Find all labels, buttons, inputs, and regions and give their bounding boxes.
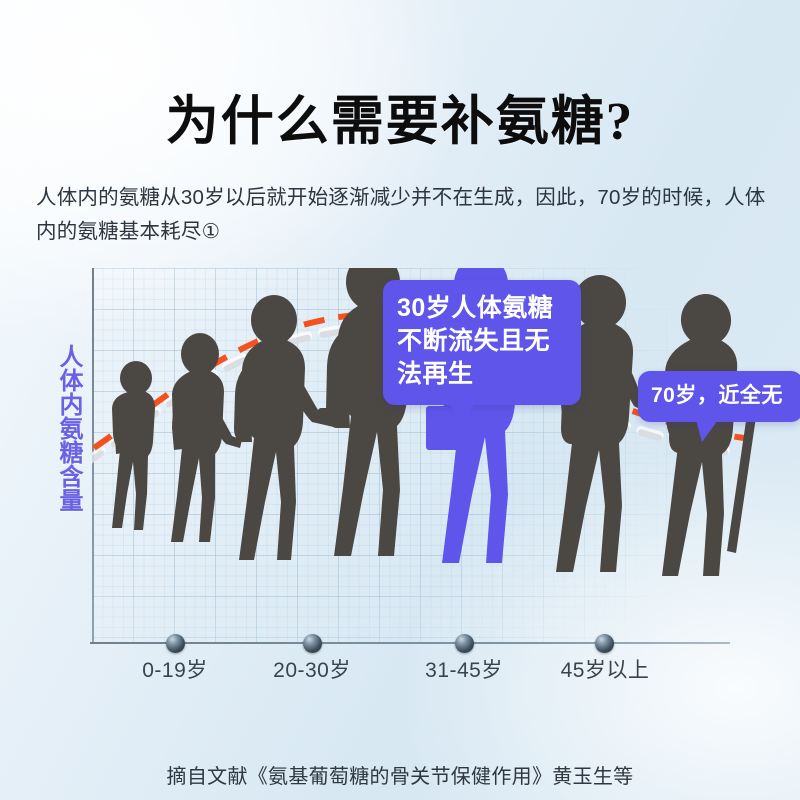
source-citation: 摘自文献《氨基葡萄糖的骨关节保健作用》黄玉生等 — [0, 760, 800, 789]
callout-main-line-3: 法再生 — [397, 358, 567, 391]
callout-main-tail — [447, 403, 475, 428]
y-axis-label: 人体内氨糖含量 — [46, 344, 86, 512]
tick-label-1: 20-30岁 — [252, 654, 372, 684]
tick-marker-0 — [166, 634, 185, 653]
figure-toddler — [112, 361, 155, 530]
tick-label-3: 45岁以上 — [545, 654, 665, 684]
tick-label-2: 31-45岁 — [404, 654, 524, 684]
infographic-poster: 为什么需要补氨糖? 人体内的氨糖从30岁以后就开始逐渐减少并不在生成，因此，70… — [0, 0, 800, 800]
figure-teen — [234, 295, 344, 560]
tick-label-0: 0-19岁 — [115, 654, 235, 684]
tick-marker-1 — [303, 634, 322, 653]
page-title: 为什么需要补氨糖? — [0, 96, 800, 149]
tick-marker-3 — [595, 634, 614, 653]
callout-main-line-2: 不断流失且无 — [397, 325, 567, 358]
callout-small-text: 70岁，近全无 — [651, 382, 791, 410]
callout-small-tail — [696, 420, 718, 442]
callout-main-line-1: 30岁人体氨糖 — [397, 292, 567, 325]
callout-bubble-main: 30岁人体氨糖 不断流失且无 法再生 — [383, 280, 581, 405]
callout-bubble-small: 70岁，近全无 — [638, 371, 800, 422]
page-subtitle: 人体内的氨糖从30岁以后就开始逐渐减少并不在生成，因此，70岁的时候，人体内的氨… — [36, 181, 776, 249]
tick-marker-2 — [455, 634, 474, 653]
figure-child — [171, 333, 242, 542]
